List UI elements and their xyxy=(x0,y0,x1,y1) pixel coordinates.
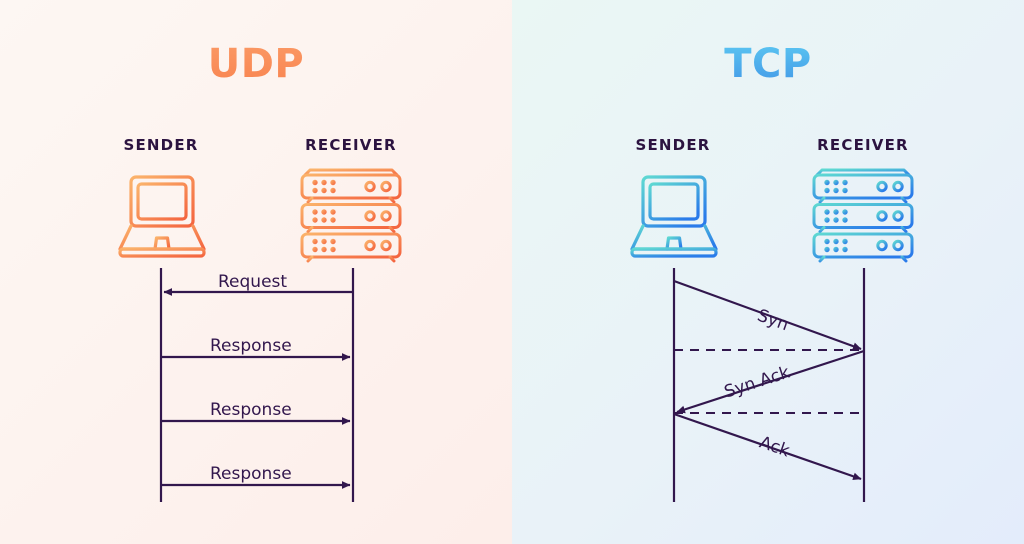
message-label-response-3: Response xyxy=(210,464,292,484)
panel-tcp: TCP SENDER RECEIVER xyxy=(512,0,1024,544)
actor-label-receiver-udp: RECEIVER xyxy=(251,136,451,154)
message-label-response-1: Response xyxy=(210,336,292,356)
laptop-icon xyxy=(117,170,207,266)
message-label-ack: Ack xyxy=(757,433,792,462)
server-rack-icon xyxy=(296,166,406,270)
panel-title-tcp: TCP xyxy=(512,40,1024,88)
message-label-request: Request xyxy=(218,272,287,292)
laptop-icon xyxy=(629,170,719,266)
message-label-syn-ack: Syn Ack xyxy=(722,363,792,403)
actor-label-sender-udp: SENDER xyxy=(61,136,261,154)
actor-label-sender-tcp: SENDER xyxy=(573,136,773,154)
panel-title-udp: UDP xyxy=(0,40,512,88)
protocol-comparison-diagram: UDP SENDER RECEIVER xyxy=(0,0,1024,544)
server-rack-icon xyxy=(808,166,918,270)
message-label-response-2: Response xyxy=(210,400,292,420)
actor-label-receiver-tcp: RECEIVER xyxy=(763,136,963,154)
panel-udp: UDP SENDER RECEIVER xyxy=(0,0,512,544)
message-label-syn: Syn xyxy=(755,306,792,336)
